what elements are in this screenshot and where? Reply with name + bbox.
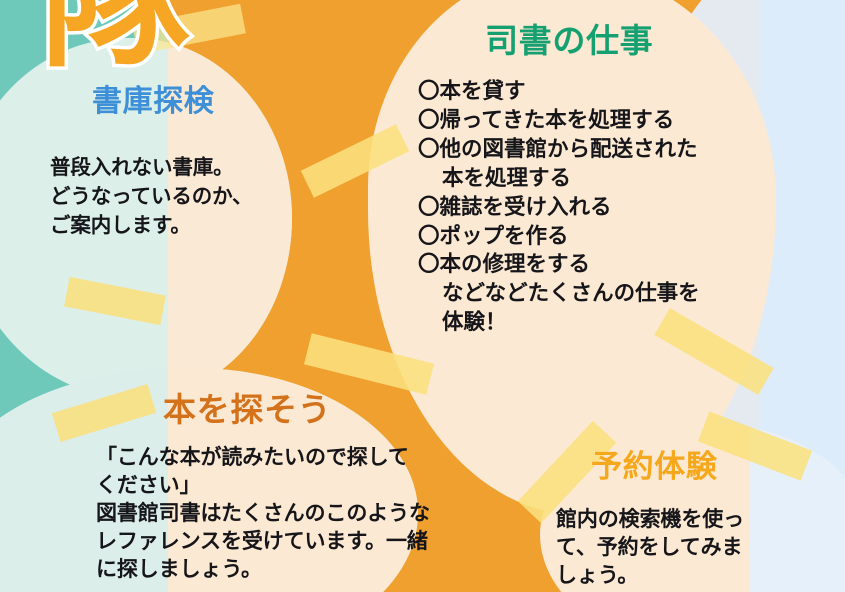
- list-item: 〇帰ってきた本を処理する: [418, 107, 700, 136]
- section-title-yoyaku: 予約体験: [591, 441, 717, 486]
- list-item: 〇ポップを作る: [418, 223, 700, 252]
- list-item: 〇本の修理をする: [418, 251, 700, 280]
- section-title-shisho: 司書の仕事: [485, 14, 653, 62]
- section-body-sagasou: 「こんな本が読みたいので探して ください」 図書館司書はたくさんのこのような レ…: [96, 444, 430, 584]
- list-item: 本を処理する: [418, 165, 700, 194]
- section-title-sagasou: 本を探そう: [163, 383, 331, 431]
- section-list-shisho: 〇本を貸す〇帰ってきた本を処理する〇他の図書館から配送された本を処理する〇雑誌を…: [418, 78, 700, 338]
- list-item: 体験！: [418, 309, 700, 338]
- section-body-shoko: 普段入れない書庫。 どうなっているのか、 ご案内します。: [50, 153, 253, 240]
- list-item: 〇雑誌を受け入れる: [418, 194, 700, 223]
- section-title-shoko: 書庫探検: [92, 76, 214, 120]
- list-item: 〇本を貸す: [418, 78, 700, 107]
- list-item: 〇他の図書館から配送された: [418, 136, 700, 165]
- poster-canvas: 隊 書庫探検 普段入れない書庫。 どうなっているのか、 ご案内します。 司書の仕…: [0, 0, 845, 592]
- list-item: などなどたくさんの仕事を: [418, 280, 700, 309]
- section-body-yoyaku: 館内の検索機を使っ て、予約をしてみま しょう。: [556, 506, 744, 590]
- decorative-kanji-tai: 隊: [40, 0, 190, 76]
